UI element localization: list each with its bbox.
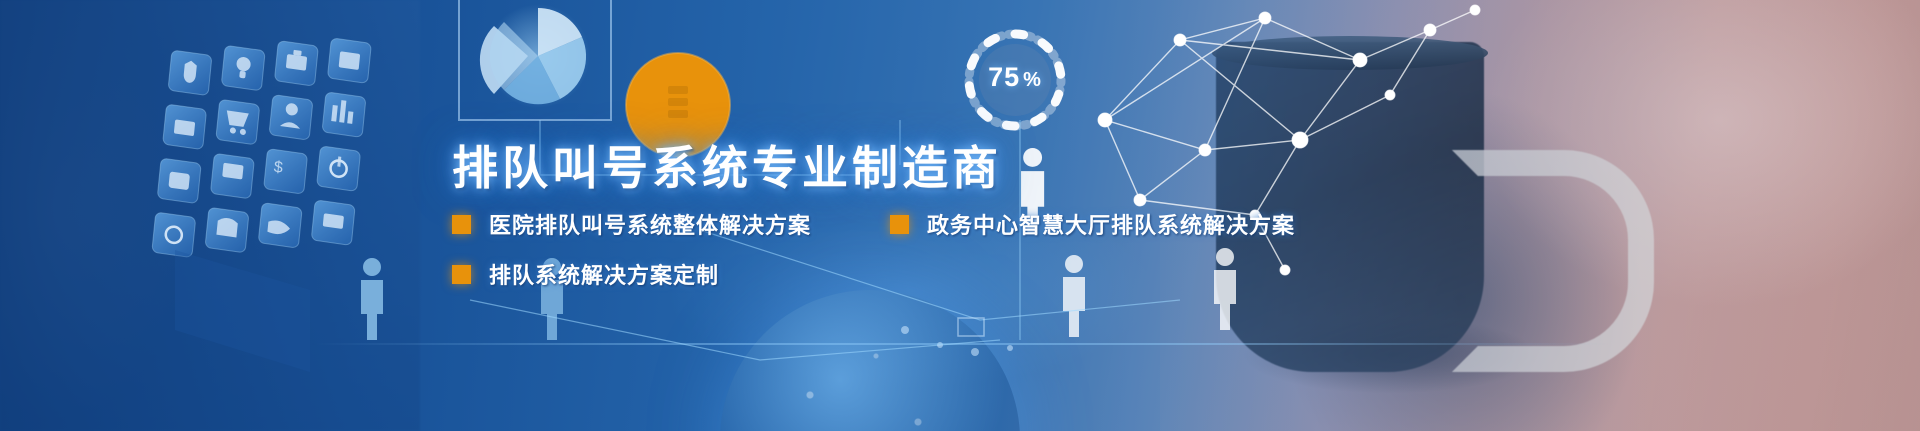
list-item-label: 排队系统解决方案定制 [489,258,719,290]
banner-content: 排队叫号系统专业制造商 医院排队叫号系统整体解决方案 排队系统解决方案定制 政务… [0,0,1920,431]
promo-banner: $ [0,0,1920,431]
square-bullet-icon [890,215,909,234]
square-bullet-icon [452,215,471,234]
list-item-label: 政务中心智慧大厅排队系统解决方案 [927,208,1295,240]
list-item: 医院排队叫号系统整体解决方案 [452,208,811,240]
list-item: 排队系统解决方案定制 [452,258,719,290]
page-title: 排队叫号系统专业制造商 [452,132,1002,198]
status-badge-unit: % [1023,69,1042,91]
list-item: 政务中心智慧大厅排队系统解决方案 [890,208,1295,240]
list-item-label: 医院排队叫号系统整体解决方案 [489,208,811,240]
status-badge-value: 75 [988,62,1020,92]
status-badge: 75% [969,62,1061,93]
square-bullet-icon [452,265,471,284]
